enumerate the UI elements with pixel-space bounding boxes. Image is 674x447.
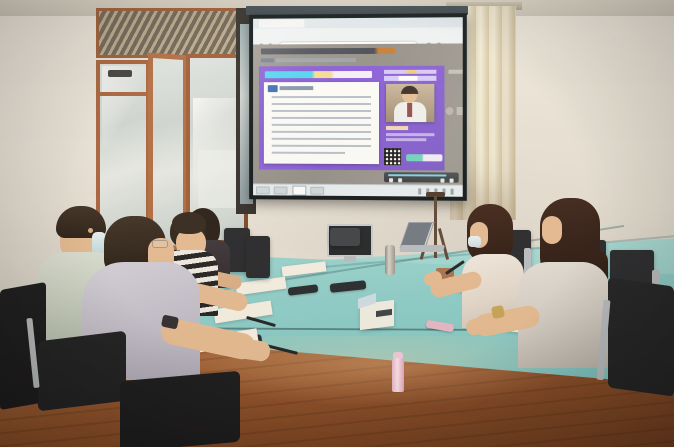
- status-badge: [406, 154, 442, 161]
- settings-icon[interactable]: [450, 179, 454, 183]
- hair-top: [172, 212, 206, 234]
- screen-display-area: [253, 17, 463, 197]
- progress-bar[interactable]: [388, 174, 446, 176]
- chair-back: [38, 331, 126, 412]
- chair: [330, 228, 360, 246]
- taskbar-app-3[interactable]: [310, 187, 324, 195]
- pink-bottle: [392, 358, 404, 392]
- fullscreen-icon[interactable]: [440, 178, 444, 182]
- monitor-stand: [344, 256, 356, 261]
- caption-line-1: [386, 133, 434, 136]
- taskbar-app-1[interactable]: [274, 186, 288, 194]
- photo-hair: [401, 86, 418, 94]
- glasses: [152, 240, 168, 248]
- laptop-base: [399, 245, 445, 252]
- document-text-lines: [272, 96, 371, 158]
- chair: [608, 277, 674, 396]
- taskbar-app-active[interactable]: [292, 186, 306, 196]
- sidebar-text: [457, 107, 463, 115]
- start-button[interactable]: [256, 186, 270, 194]
- glass-highlight: [102, 66, 146, 146]
- play-icon[interactable]: [389, 178, 393, 182]
- face: [542, 216, 562, 244]
- settings-gear-icon[interactable]: [444, 106, 454, 116]
- caption-heading: [386, 126, 408, 130]
- projector-screen[interactable]: [249, 13, 467, 201]
- document-logo-icon: [268, 85, 278, 92]
- caption-line-2: [386, 138, 426, 141]
- volume-icon[interactable]: [398, 178, 402, 182]
- door-transom-panel: [96, 8, 248, 58]
- sidebar-label: [449, 70, 463, 74]
- slide-document: [264, 82, 379, 164]
- glass-door: [96, 4, 248, 244]
- thermos: [385, 245, 395, 275]
- face-mask: [468, 236, 481, 247]
- presenter-photo: [386, 84, 434, 122]
- page-title: [261, 48, 410, 55]
- photo-tie: [407, 103, 412, 117]
- chair-back: [120, 371, 240, 447]
- presenter-meta-line: [384, 70, 436, 74]
- door-sensor-icon: [108, 70, 132, 77]
- slide-caption: [386, 126, 436, 144]
- browser-tab[interactable]: [259, 19, 304, 27]
- door-mullion: [96, 92, 150, 96]
- meeting-room-photo: [0, 0, 674, 447]
- chair: [246, 236, 270, 278]
- browser-toolbar: [253, 27, 463, 44]
- video-player[interactable]: [259, 66, 445, 171]
- web-page-body: [253, 43, 463, 184]
- document-header-text: [280, 86, 314, 90]
- wristwatch: [491, 305, 505, 319]
- presenter-info: [384, 70, 438, 82]
- qr-code-icon: [384, 148, 401, 165]
- slide-title: [265, 71, 372, 78]
- ear: [88, 228, 93, 233]
- breadcrumb: [261, 58, 356, 62]
- glass-reflection: [198, 150, 238, 208]
- presenter-name-line: [384, 76, 436, 81]
